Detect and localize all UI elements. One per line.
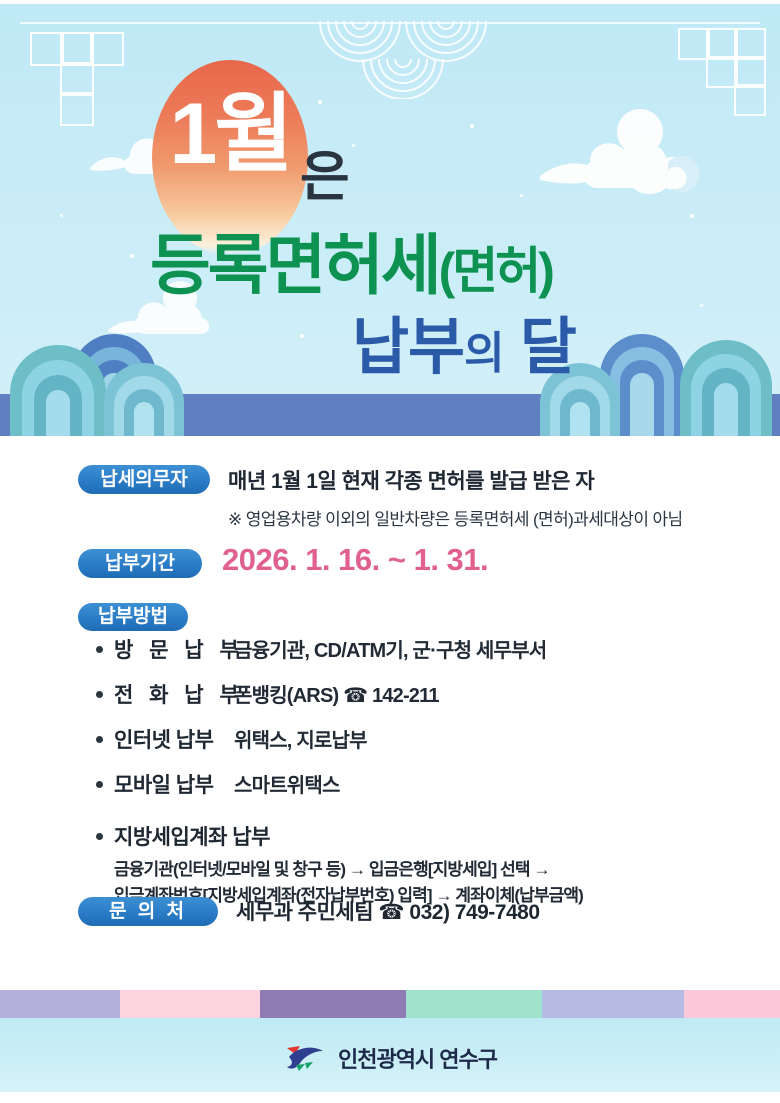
sparkle (470, 124, 474, 128)
title-line-blue: 납부의 달 (352, 296, 682, 386)
taxpayer-text: 매년 1월 1일 현재 각종 면허를 발급 받은 자 (228, 465, 683, 495)
label-contact: 문 의 처 (78, 897, 218, 926)
label-period: 납부기간 (78, 549, 202, 578)
payment-method-list: 방 문 납 부 금융기관, CD/ATM기, 군·구청 세무부서 전 화 납 부… (96, 634, 756, 925)
row-taxpayer: 납세의무자 매년 1월 1일 현재 각종 면허를 발급 받은 자 ※ 영업용차량… (78, 465, 683, 530)
account-step-line-1: 금융기관(인터넷/모바일 및 창구 등) → 입금은행[지방세입] 선택 → (114, 857, 756, 883)
method-value: 스마트위택스 (234, 769, 340, 798)
label-methods: 납부방법 (78, 603, 188, 631)
sparkle (690, 214, 694, 218)
grid-motif-right (678, 28, 780, 114)
list-item-internet: 인터넷 납부 위택스, 지로납부 (96, 724, 756, 754)
method-label: 모바일 납부 (114, 769, 234, 799)
method-label: 방 문 납 부 (114, 634, 234, 664)
sparkle (130, 254, 134, 258)
method-value: 폰뱅킹(ARS) ☎ 142-211 (234, 679, 439, 708)
contact-text: 세무과 주민세팀 ☎ 032) 749-7480 (236, 896, 540, 926)
label-taxpayer: 납세의무자 (78, 465, 210, 494)
row-methods-label: 납부방법 (78, 603, 188, 631)
row-contact: 문 의 처 세무과 주민세팀 ☎ 032) 749-7480 (78, 896, 540, 926)
sparkle (700, 304, 703, 307)
row-period: 납부기간 2026. 1. 16. ~ 1. 31. (78, 545, 488, 581)
method-label: 인터넷 납부 (114, 724, 234, 754)
sparkle (318, 100, 322, 104)
list-item-visit: 방 문 납 부 금융기관, CD/ATM기, 군·구청 세무부서 (96, 634, 756, 664)
taxpayer-note: ※ 영업용차량 이외의 일반차량은 등록면허세 (면허)과세대상이 아님 (228, 505, 683, 530)
title-line-green: 등록면허세(면허) (150, 212, 670, 308)
title-green-paren: (면허) (439, 243, 552, 299)
method-label: 전 화 납 부 (114, 679, 234, 709)
poster: 1월 은 등록면허세(면허) 납부의 달 납세의무자 매년 1월 1일 현재 각… (0, 0, 780, 1103)
title-blue-tail: 달 (520, 313, 576, 382)
particle-eun: 은 (300, 132, 348, 211)
method-value: 위택스, 지로납부 (234, 724, 367, 753)
strip-seg-5 (542, 990, 684, 1018)
list-item-phone: 전 화 납 부 폰뱅킹(ARS) ☎ 142-211 (96, 679, 756, 709)
grid-motif-left (30, 32, 150, 124)
footer-logo-group: 인천광역시 연수구 (0, 1042, 780, 1074)
bullet-dot-icon (96, 691, 103, 698)
footer: 인천광역시 연수구 (0, 990, 780, 1103)
method-value: 금융기관, CD/ATM기, 군·구청 세무부서 (234, 634, 546, 663)
bullet-dot-icon (96, 781, 103, 788)
cloud-right (540, 104, 760, 204)
title-blue-particle: 의 (464, 329, 503, 378)
hero-banner: 1월 은 등록면허세(면허) 납부의 달 (0, 4, 780, 436)
bullet-dot-icon (96, 833, 103, 840)
incheon-yeonsu-logo-icon (283, 1043, 329, 1073)
bullet-dot-icon (96, 736, 103, 743)
sparkle (352, 144, 355, 147)
month-badge-label: 1월 (152, 64, 308, 204)
bullet-dot-icon (96, 646, 103, 653)
strip-seg-3 (260, 990, 406, 1018)
strip-seg-1 (0, 990, 120, 1018)
title-blue-main: 납부 (352, 313, 464, 382)
period-value: 2026. 1. 16. ~ 1. 31. (222, 542, 488, 578)
color-strip (0, 990, 780, 1018)
sparkle (520, 194, 523, 197)
account-label: 지방세입계좌 납부 (114, 821, 270, 851)
arc-decoration-top (318, 21, 488, 99)
sparkle (60, 214, 63, 217)
list-item-mobile: 모바일 납부 스마트위택스 (96, 769, 756, 799)
title-green-text: 등록면허세 (150, 228, 439, 302)
footer-org-name: 인천광역시 연수구 (338, 1042, 497, 1074)
strip-seg-6 (684, 990, 780, 1018)
strip-seg-4 (406, 990, 542, 1018)
strip-seg-2 (120, 990, 260, 1018)
